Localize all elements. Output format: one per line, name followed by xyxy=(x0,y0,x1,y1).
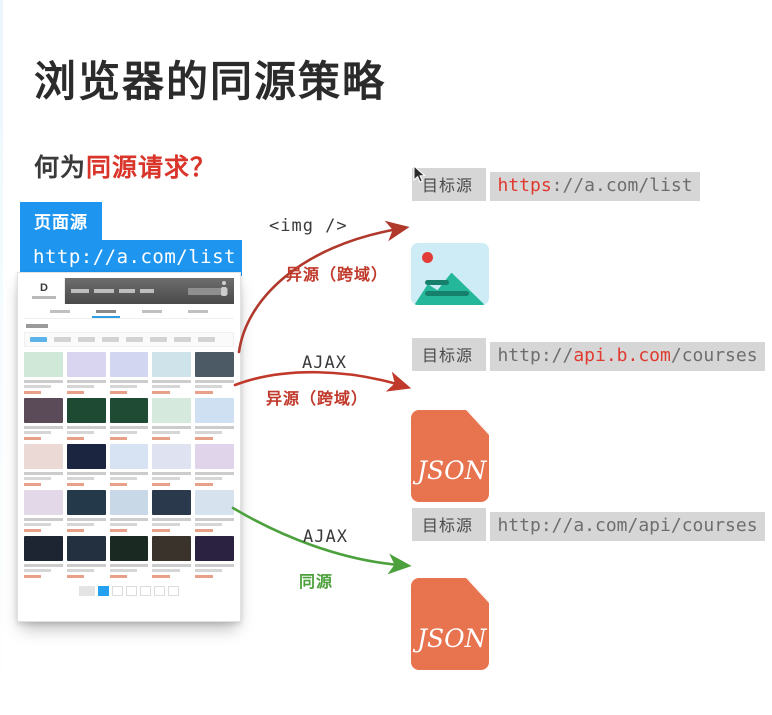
target-origin-tag: 目标源 xyxy=(412,508,486,541)
target-origin-2: 目标源 http://api.b.com/courses xyxy=(412,338,765,371)
thumb-course-thumb xyxy=(24,490,63,515)
thumb-filter-chip xyxy=(54,337,71,342)
sun-icon xyxy=(422,252,433,263)
thumb-course-subtitle xyxy=(67,477,94,480)
thumb-course-subtitle xyxy=(24,477,51,480)
thumb-course-price xyxy=(152,437,169,440)
json-label: JSON xyxy=(417,456,487,485)
thumb-course-thumb xyxy=(152,536,191,561)
thumb-course-thumb xyxy=(152,490,191,515)
thumb-course-card xyxy=(67,536,106,578)
thumb-filter-chip-active xyxy=(30,337,47,342)
thumb-course-thumb xyxy=(195,490,234,515)
thumb-course-price xyxy=(195,483,212,486)
thumb-course-subtitle xyxy=(152,569,179,572)
thumb-nav-item xyxy=(71,289,89,293)
thumb-course-thumb xyxy=(195,444,234,469)
thumb-course-price xyxy=(67,483,84,486)
thumb-filter-chip xyxy=(78,337,95,342)
thumb-course-price xyxy=(24,529,41,532)
thumb-course-thumb xyxy=(152,352,191,377)
page-fold-icon xyxy=(466,410,489,435)
thumb-page xyxy=(112,586,123,596)
image-line-1 xyxy=(425,280,449,285)
thumb-course-subtitle xyxy=(195,431,222,434)
thumb-course-subtitle xyxy=(195,477,222,480)
thumb-tab-active xyxy=(96,310,116,313)
thumb-course-thumb xyxy=(110,352,149,377)
target-origin-url-3: http://a.com/api/courses xyxy=(490,512,764,541)
thumb-course-price xyxy=(24,483,41,486)
thumb-logo-subtitle-bar xyxy=(32,296,56,299)
thumb-page xyxy=(126,586,137,596)
thumb-course-card xyxy=(67,490,106,532)
browser-screenshot-thumbnail: D xyxy=(17,272,241,622)
url-scheme-highlight: https xyxy=(497,175,551,196)
thumb-course-subtitle xyxy=(195,385,222,388)
arrow-1-relation-label: 异源（跨域） xyxy=(286,261,388,285)
thumb-course-subtitle xyxy=(152,477,179,480)
thumb-course-subtitle xyxy=(152,431,179,434)
thumb-course-thumb xyxy=(110,490,149,515)
thumb-nav-item xyxy=(119,289,135,293)
arrow-3-relation-label: 同源 xyxy=(299,568,333,592)
thumb-course-card xyxy=(67,352,106,394)
thumb-course-price xyxy=(67,391,84,394)
page-fold-icon xyxy=(466,578,489,603)
thumb-course-title xyxy=(24,564,63,567)
section-subtitle: 何为同源请求？ xyxy=(34,148,216,184)
thumb-tab xyxy=(188,310,208,313)
thumb-tabs xyxy=(24,304,234,319)
thumb-course-thumb xyxy=(24,398,63,423)
thumb-course-card xyxy=(152,444,191,486)
thumb-course-card xyxy=(195,490,234,532)
thumb-course-thumb xyxy=(24,536,63,561)
thumb-course-price xyxy=(24,437,41,440)
mountain-icon xyxy=(413,263,487,305)
thumb-course-card xyxy=(152,398,191,440)
thumb-course-card xyxy=(195,444,234,486)
thumb-course-subtitle xyxy=(67,385,94,388)
thumb-course-thumb xyxy=(67,490,106,515)
arrow-1-tech-label: <img /> xyxy=(269,216,348,236)
thumb-course-title xyxy=(152,518,191,521)
thumb-course-price xyxy=(195,437,212,440)
thumb-course-card xyxy=(110,536,149,578)
thumb-course-thumb xyxy=(24,444,63,469)
target-origin-3: 目标源 http://a.com/api/courses xyxy=(412,508,765,541)
thumb-course-card xyxy=(195,536,234,578)
thumb-course-subtitle xyxy=(24,569,51,572)
thumb-course-subtitle xyxy=(152,523,179,526)
thumb-course-price xyxy=(67,529,84,532)
thumb-course-price xyxy=(110,437,127,440)
thumb-course-price xyxy=(110,575,127,578)
thumb-course-thumb xyxy=(67,398,106,423)
thumb-course-thumb xyxy=(67,444,106,469)
thumb-course-thumb xyxy=(195,536,234,561)
thumb-logo: D xyxy=(24,278,65,304)
thumb-course-title xyxy=(24,380,63,383)
thumb-course-title xyxy=(67,472,106,475)
thumb-course-title xyxy=(195,564,234,567)
thumb-course-title xyxy=(24,518,63,521)
thumb-course-subtitle xyxy=(110,477,137,480)
thumb-tab xyxy=(50,310,70,313)
mouse-cursor-icon xyxy=(413,165,427,185)
thumb-course-card xyxy=(24,398,63,440)
thumb-navbar xyxy=(65,278,234,304)
thumb-course-subtitle xyxy=(110,523,137,526)
thumb-course-card xyxy=(24,352,63,394)
image-payload-icon xyxy=(411,243,489,305)
thumb-course-price xyxy=(195,529,212,532)
thumb-course-card xyxy=(110,352,149,394)
page-source-url: http://a.com/list xyxy=(20,240,242,276)
thumb-course-card xyxy=(152,490,191,532)
thumb-pagination xyxy=(24,586,234,596)
thumb-page xyxy=(154,586,165,596)
thumb-course-subtitle xyxy=(110,431,137,434)
thumb-course-card xyxy=(152,352,191,394)
thumb-course-price xyxy=(195,575,212,578)
thumb-course-price xyxy=(152,391,169,394)
thumb-avatar-body-icon xyxy=(221,287,227,296)
thumb-course-title xyxy=(152,564,191,567)
thumb-course-price xyxy=(110,529,127,532)
url-path: /courses xyxy=(671,345,758,366)
thumb-course-subtitle xyxy=(24,431,51,434)
thumb-course-subtitle xyxy=(152,385,179,388)
thumb-course-card xyxy=(67,444,106,486)
thumb-course-price xyxy=(110,483,127,486)
thumb-course-card xyxy=(195,352,234,394)
thumb-course-title xyxy=(24,426,63,429)
page-source-block: 页面源 http://a.com/list xyxy=(20,202,242,276)
url-scheme: http:// xyxy=(497,345,573,366)
thumb-course-subtitle xyxy=(24,385,51,388)
target-origin-url-1: https://a.com/list xyxy=(490,172,699,201)
thumb-course-card xyxy=(24,536,63,578)
thumb-course-price xyxy=(67,575,84,578)
thumb-course-card xyxy=(195,398,234,440)
thumb-course-card xyxy=(24,444,63,486)
thumb-course-price xyxy=(24,575,41,578)
json-payload-icon: JSON xyxy=(411,578,489,670)
arrow-2-relation-label: 异源（跨域） xyxy=(266,385,368,409)
thumb-course-title xyxy=(195,426,234,429)
thumb-course-card xyxy=(24,490,63,532)
thumb-course-title xyxy=(110,518,149,521)
thumb-course-card xyxy=(152,536,191,578)
thumb-page xyxy=(168,586,179,596)
thumb-page-prev xyxy=(79,586,95,596)
thumb-course-title xyxy=(152,426,191,429)
thumb-avatar-icon xyxy=(222,281,226,285)
thumb-course-thumb xyxy=(67,536,106,561)
thumb-course-price xyxy=(152,529,169,532)
url-rest: ://a.com/list xyxy=(552,175,693,196)
thumb-course-title xyxy=(24,472,63,475)
arrow-2-tech-label: AJAX xyxy=(302,353,347,373)
thumb-course-card xyxy=(110,490,149,532)
thumb-course-title xyxy=(67,380,106,383)
thumb-course-title xyxy=(110,426,149,429)
thumb-filter-chip xyxy=(150,337,167,342)
thumb-course-title xyxy=(67,426,106,429)
thumb-nav-item xyxy=(94,289,114,293)
arrow-cross-origin-img xyxy=(239,229,398,352)
thumb-course-subtitle xyxy=(195,523,222,526)
thumb-course-title xyxy=(195,518,234,521)
thumb-course-grid xyxy=(24,352,234,578)
arrow-cross-origin-ajax xyxy=(235,372,400,385)
thumb-filter-chip xyxy=(102,337,119,342)
target-origin-1: 目标源 https://a.com/list xyxy=(412,168,700,201)
thumb-course-title xyxy=(110,472,149,475)
thumb-page-current xyxy=(98,586,109,596)
thumb-course-title xyxy=(110,380,149,383)
thumb-course-subtitle xyxy=(67,431,94,434)
thumb-course-price xyxy=(152,483,169,486)
thumb-course-thumb xyxy=(152,398,191,423)
thumb-page xyxy=(140,586,151,596)
target-origin-url-2: http://api.b.com/courses xyxy=(490,342,764,371)
thumb-section-heading xyxy=(26,324,48,328)
thumb-course-thumb xyxy=(110,444,149,469)
thumb-filter-chip xyxy=(174,337,191,342)
thumb-course-thumb xyxy=(110,536,149,561)
json-payload-icon: JSON xyxy=(411,410,489,502)
thumb-course-title xyxy=(195,380,234,383)
thumb-course-thumb xyxy=(110,398,149,423)
thumb-course-card xyxy=(67,398,106,440)
thumb-course-thumb xyxy=(67,352,106,377)
thumb-course-price xyxy=(110,391,127,394)
image-line-2 xyxy=(425,291,469,296)
subtitle-plain-text: 何为 xyxy=(34,154,86,182)
page-source-tag: 页面源 xyxy=(20,202,102,240)
thumb-filter-chip xyxy=(198,337,215,342)
thumb-nav-item xyxy=(140,289,154,293)
thumb-logo-letter: D xyxy=(40,283,48,294)
page-title: 浏览器的同源策略 xyxy=(34,48,386,109)
thumb-filter-chip xyxy=(126,337,143,342)
left-edge-tint xyxy=(0,0,3,715)
thumb-course-card xyxy=(110,444,149,486)
thumb-course-title xyxy=(67,518,106,521)
thumb-course-thumb xyxy=(195,398,234,423)
thumb-course-thumb xyxy=(24,352,63,377)
json-label: JSON xyxy=(417,624,487,653)
thumb-course-subtitle xyxy=(24,523,51,526)
thumb-course-price xyxy=(24,391,41,394)
thumb-course-price xyxy=(195,391,212,394)
thumb-bottom-fade xyxy=(18,599,240,621)
thumb-course-subtitle xyxy=(67,569,94,572)
thumb-filter-bar xyxy=(24,332,234,347)
thumb-course-title xyxy=(110,564,149,567)
thumb-course-card xyxy=(110,398,149,440)
subtitle-accent-text: 同源请求？ xyxy=(86,154,216,182)
thumb-course-price xyxy=(152,575,169,578)
thumb-course-subtitle xyxy=(67,523,94,526)
thumb-course-title xyxy=(67,564,106,567)
thumb-course-subtitle xyxy=(110,385,137,388)
thumb-course-title xyxy=(152,472,191,475)
thumb-course-subtitle xyxy=(195,569,222,572)
thumb-course-price xyxy=(67,437,84,440)
thumb-tab xyxy=(142,310,162,313)
thumb-course-title xyxy=(152,380,191,383)
arrow-3-tech-label: AJAX xyxy=(303,527,348,547)
thumb-header: D xyxy=(24,278,234,304)
thumb-course-title xyxy=(195,472,234,475)
url-host-highlight: api.b.com xyxy=(573,345,671,366)
thumb-course-subtitle xyxy=(110,569,137,572)
thumb-course-thumb xyxy=(195,352,234,377)
target-origin-tag: 目标源 xyxy=(412,338,486,371)
thumb-course-thumb xyxy=(152,444,191,469)
